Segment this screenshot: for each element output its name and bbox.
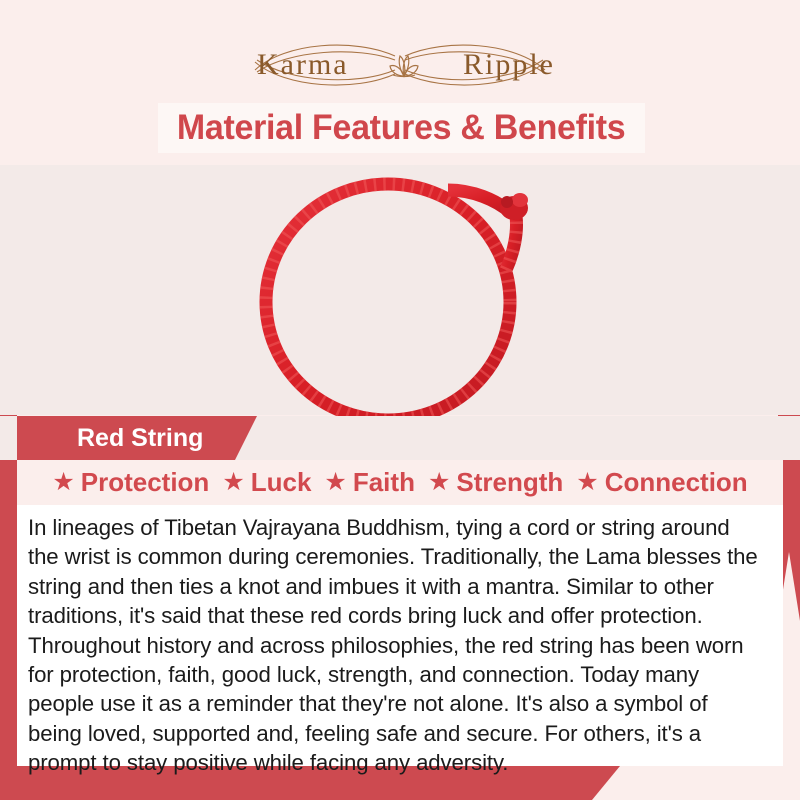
benefit-item-protection: ★ Protection [52,467,209,498]
benefit-item-connection: ★ Connection [576,467,747,498]
brand-logo-wrap: Karma Ripple [235,36,565,94]
product-image-panel [0,165,800,415]
star-icon: ★ [222,470,244,495]
description-paragraph: In lineages of Tibetan Vajrayana Buddhis… [28,513,761,778]
star-icon: ★ [576,470,598,495]
benefit-label: Protection [81,467,210,498]
page-title-band: Material Features & Benefits [158,103,645,153]
benefit-label: Strength [456,467,563,498]
brand-logo: Karma Ripple [0,36,800,94]
product-name-banner: Red String [17,416,257,460]
benefits-row: ★ Protection ★ Luck ★ Faith ★ Strength ★… [17,460,783,505]
benefit-label: Connection [605,467,748,498]
benefit-item-faith: ★ Faith [324,467,415,498]
star-icon: ★ [52,470,74,495]
star-icon: ★ [324,470,346,495]
red-braided-string-bracelet [248,160,558,430]
benefit-label: Luck [251,467,312,498]
benefit-label: Faith [353,467,415,498]
description-panel: In lineages of Tibetan Vajrayana Buddhis… [17,505,783,766]
brand-name-left: Karma [257,48,349,82]
star-icon: ★ [428,470,450,495]
header: Karma Ripple Material Features & Benefit… [0,0,800,165]
benefit-item-luck: ★ Luck [222,467,311,498]
lotus-icon [387,52,421,78]
benefit-item-strength: ★ Strength [428,467,563,498]
brand-name-right: Ripple [463,48,555,82]
page-title: Material Features & Benefits [177,108,625,148]
product-name: Red String [77,424,203,453]
